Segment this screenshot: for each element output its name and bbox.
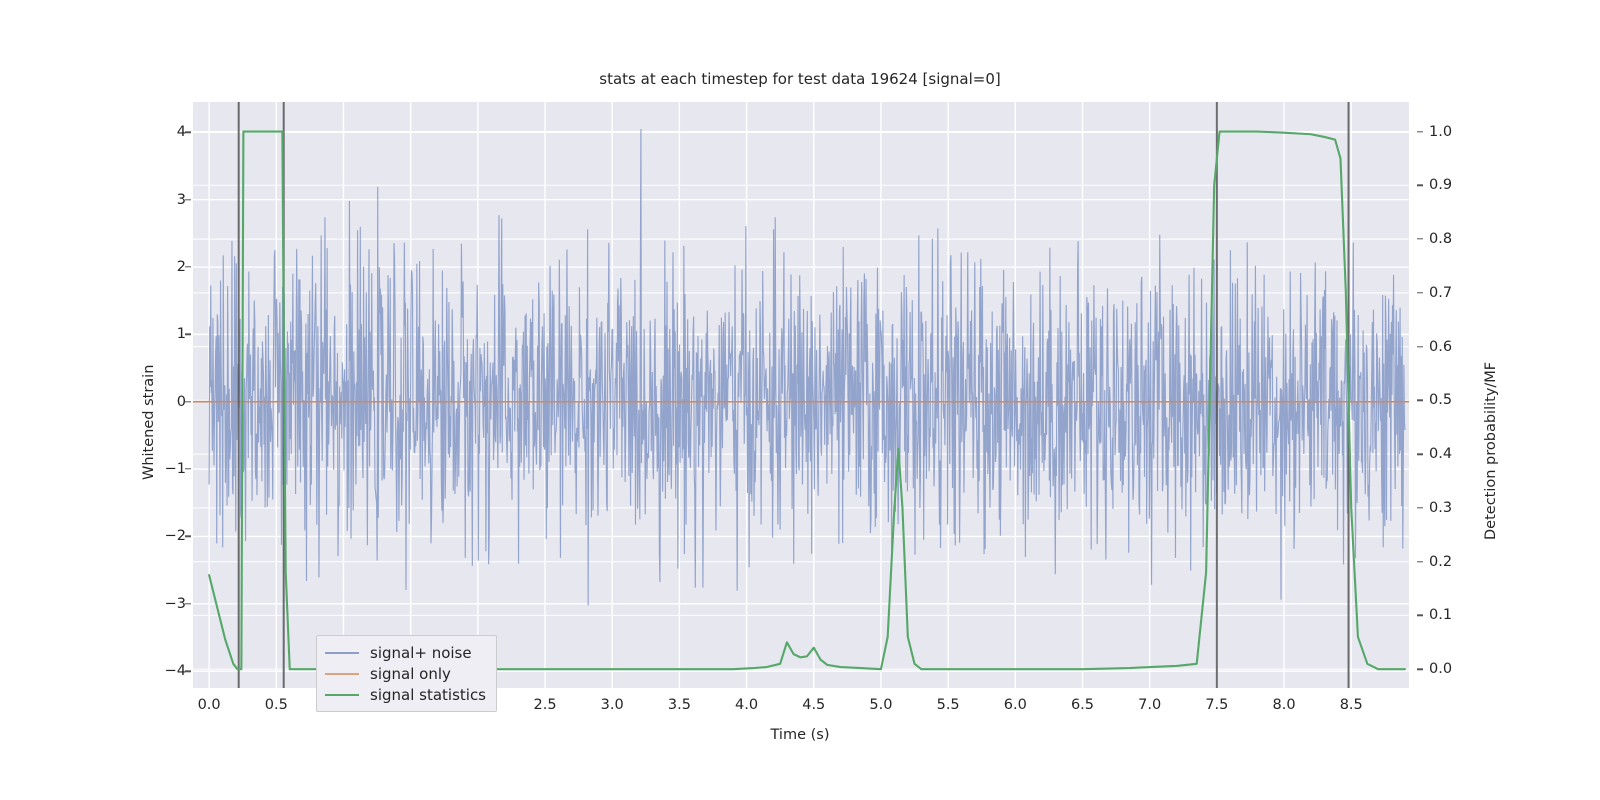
legend-swatch-signal-statistics: [325, 694, 359, 696]
legend-swatch-signal-only: [325, 673, 359, 675]
y-tick-mark-right: [1417, 615, 1423, 616]
y-tick-mark-right: [1417, 131, 1423, 132]
x-tick: 3.5: [668, 697, 691, 713]
y-tick-mark-right: [1417, 238, 1423, 239]
y-tick-mark-left: [185, 603, 191, 604]
y-tick-right: 0.4: [1429, 446, 1452, 462]
y-tick-right: 0.6: [1429, 339, 1452, 355]
x-tick: 4.0: [735, 697, 758, 713]
y-tick-mark-right: [1417, 561, 1423, 562]
y-tick-mark-right: [1417, 346, 1423, 347]
y-tick-right: 1.0: [1429, 124, 1452, 140]
plot-canvas: [193, 102, 1409, 688]
chart-title: stats at each timestep for test data 196…: [0, 70, 1600, 88]
x-tick: 5.5: [937, 697, 960, 713]
y-tick-mark-left: [185, 670, 191, 671]
legend-swatch-signal-noise: [325, 652, 359, 654]
x-tick: 0.0: [198, 697, 221, 713]
x-tick: 5.0: [869, 697, 892, 713]
y-tick-right: 0.7: [1429, 285, 1452, 301]
y-tick-right: 0.2: [1429, 554, 1452, 570]
y-tick-mark-left: [185, 536, 191, 537]
y-tick-mark-left: [185, 132, 191, 133]
legend-item: signal+ noise: [325, 642, 486, 663]
y-tick-left: −4: [165, 663, 186, 679]
x-tick: 6.0: [1004, 697, 1027, 713]
y-tick-mark-right: [1417, 185, 1423, 186]
x-tick: 3.0: [601, 697, 624, 713]
legend-label-signal-only: signal only: [370, 665, 451, 683]
y-tick-right: 0.1: [1429, 607, 1452, 623]
legend-item: signal statistics: [325, 684, 486, 705]
x-tick: 6.5: [1071, 697, 1094, 713]
y-tick-mark-left: [185, 266, 191, 267]
x-tick: 8.5: [1340, 697, 1363, 713]
x-tick: 2.5: [534, 697, 557, 713]
x-tick: 7.0: [1138, 697, 1161, 713]
y-tick-mark-right: [1417, 668, 1423, 669]
y-tick-mark-right: [1417, 400, 1423, 401]
y-tick-right: 0.8: [1429, 231, 1452, 247]
y-tick-right: 0.0: [1429, 661, 1452, 677]
signal-noise-series: [209, 129, 1405, 605]
y-axis-left-label: Whitened strain: [141, 365, 157, 480]
y-tick-left: −2: [165, 528, 186, 544]
figure: stats at each timestep for test data 196…: [0, 0, 1600, 800]
legend-label-signal-statistics: signal statistics: [370, 686, 486, 704]
y-tick-mark-left: [185, 468, 191, 469]
y-tick-right: 0.5: [1429, 392, 1452, 408]
y-tick-mark-right: [1417, 453, 1423, 454]
y-tick-mark-left: [185, 401, 191, 402]
legend-label-signal-noise: signal+ noise: [370, 644, 472, 662]
x-axis-label: Time (s): [0, 727, 1600, 743]
y-tick-mark-right: [1417, 292, 1423, 293]
x-tick: 0.5: [265, 697, 288, 713]
y-tick-right: 0.3: [1429, 500, 1452, 516]
x-tick: 7.5: [1205, 697, 1228, 713]
y-tick-mark-left: [185, 199, 191, 200]
y-tick-left: −1: [165, 461, 186, 477]
plot-area: [193, 102, 1409, 688]
y-tick-mark-left: [185, 334, 191, 335]
x-tick: 8.0: [1273, 697, 1296, 713]
y-axis-right-label: Detection probability/MF: [1483, 362, 1499, 540]
y-tick-right: 0.9: [1429, 177, 1452, 193]
x-tick: 4.5: [802, 697, 825, 713]
legend: signal+ noise signal only signal statist…: [316, 635, 497, 712]
y-tick-left: −3: [165, 596, 186, 612]
y-tick-mark-right: [1417, 507, 1423, 508]
legend-item: signal only: [325, 663, 486, 684]
